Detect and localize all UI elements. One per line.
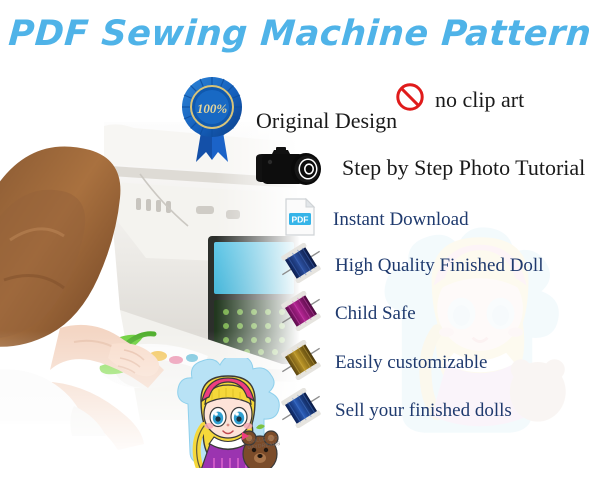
rosette-label: 100% bbox=[197, 101, 228, 116]
feature-label-easily-customizable: Easily customizable bbox=[335, 352, 487, 374]
feature-label-high-quality-doll: High Quality Finished Doll bbox=[335, 255, 543, 277]
brand-logo: DOLLS AND DAYDREAMS bbox=[168, 358, 286, 468]
feature-label-child-safe: Child Safe bbox=[335, 303, 416, 325]
pdf-badge-label: PDF bbox=[292, 215, 309, 225]
prohibition-icon bbox=[395, 82, 425, 117]
feature-high-quality-doll: High Quality Finished Doll bbox=[281, 243, 543, 288]
feature-no-clip-art: no clip art bbox=[395, 82, 524, 117]
feature-label-original-design: Original Design bbox=[256, 108, 397, 134]
pdf-file-icon: PDF bbox=[281, 196, 319, 243]
feature-sell-dolls: Sell your finished dolls bbox=[281, 388, 512, 433]
feature-photo-tutorial: Step by Step Photo Tutorial bbox=[254, 142, 585, 193]
poster-canvas: PDF Sewing Machine Pattern bbox=[0, 0, 600, 480]
rosette-100-percent-icon: 100% bbox=[178, 74, 246, 167]
feature-instant-download: PDF Instant Download bbox=[281, 196, 469, 243]
thread-spool-blue-icon bbox=[281, 388, 321, 433]
feature-label-photo-tutorial: Step by Step Photo Tutorial bbox=[342, 155, 585, 181]
feature-label-instant-download: Instant Download bbox=[333, 209, 469, 231]
feature-child-safe: Child Safe bbox=[281, 291, 416, 336]
feature-easily-customizable: Easily customizable bbox=[281, 340, 487, 385]
feature-label-sell-dolls: Sell your finished dolls bbox=[335, 400, 512, 422]
camera-icon bbox=[254, 142, 328, 193]
page-title: PDF Sewing Machine Pattern bbox=[0, 14, 600, 54]
thread-spool-purple-icon bbox=[281, 291, 321, 336]
feature-label-no-clip-art: no clip art bbox=[435, 87, 524, 113]
thread-spool-gold-icon bbox=[281, 340, 321, 385]
thread-spool-navy-icon bbox=[281, 243, 321, 288]
